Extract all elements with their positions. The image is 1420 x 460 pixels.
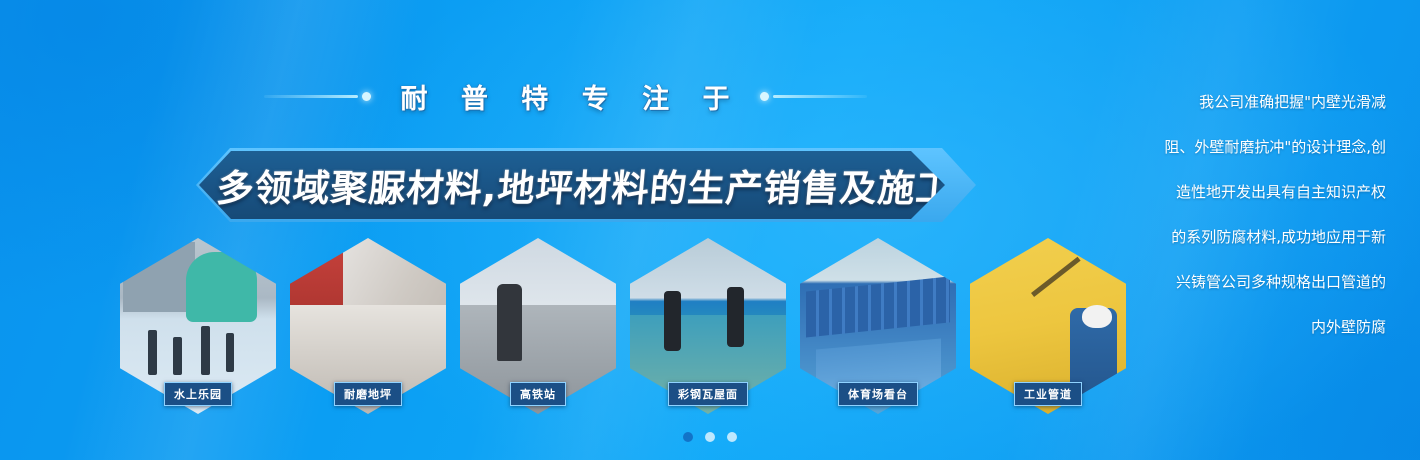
decorative-dot-icon	[760, 92, 769, 101]
gallery-item-color-steel-roof[interactable]: 彩钢瓦屋面	[630, 238, 786, 414]
gallery-item-caption: 彩钢瓦屋面	[668, 382, 748, 406]
gallery-item-caption: 水上乐园	[164, 382, 232, 406]
subheading-text: 耐 普 特 专 注 于	[389, 77, 742, 116]
headline-plate: 多领域聚脲材料,地坪材料的生产销售及施工	[199, 151, 973, 219]
description-line: 我公司准确把握"内壁光滑减	[1154, 80, 1386, 125]
description-column: 我公司准确把握"内壁光滑减 阻、外壁耐磨抗冲"的设计理念,创 造性地开发出具有自…	[1154, 80, 1386, 350]
gallery-item-caption: 工业管道	[1014, 382, 1082, 406]
description-line: 兴铸管公司多种规格出口管道的	[1154, 260, 1386, 305]
decorative-line	[773, 95, 867, 98]
line-decoration-left	[264, 92, 371, 101]
gallery-item-high-speed-rail-station[interactable]: 高铁站	[460, 238, 616, 414]
description-line: 的系列防腐材料,成功地应用于新	[1154, 215, 1386, 260]
carousel-dot-1[interactable]	[683, 432, 693, 442]
description-line: 造性地开发出具有自主知识产权	[1154, 170, 1386, 215]
hexagon-gallery: 水上乐园 耐磨地坪 高铁站	[120, 238, 1130, 422]
gallery-item-caption: 耐磨地坪	[334, 382, 402, 406]
gallery-item-industrial-pipeline[interactable]: 工业管道	[970, 238, 1126, 414]
headline-banner: 多领域聚脲材料,地坪材料的生产销售及施工	[196, 148, 976, 222]
gallery-item-caption: 体育场看台	[838, 382, 918, 406]
gallery-item-wear-resistant-floor[interactable]: 耐磨地坪	[290, 238, 446, 414]
line-decoration-right	[760, 92, 867, 101]
gallery-item-water-park[interactable]: 水上乐园	[120, 238, 276, 414]
gallery-item-caption: 高铁站	[510, 382, 566, 406]
carousel-dots	[0, 432, 1420, 442]
subheading-row: 耐 普 特 专 注 于	[0, 78, 1130, 114]
hero-banner: 耐 普 特 专 注 于 多领域聚脲材料,地坪材料的生产销售及施工 我公司准确把握…	[0, 0, 1420, 460]
carousel-dot-3[interactable]	[727, 432, 737, 442]
description-line: 内外壁防腐	[1154, 305, 1386, 350]
description-line: 阻、外壁耐磨抗冲"的设计理念,创	[1154, 125, 1386, 170]
headline-text: 多领域聚脲材料,地坪材料的生产销售及施工	[215, 158, 957, 212]
decorative-dot-icon	[362, 92, 371, 101]
decorative-line	[264, 95, 358, 98]
carousel-dot-2[interactable]	[705, 432, 715, 442]
gallery-item-stadium-grandstand[interactable]: 体育场看台	[800, 238, 956, 414]
